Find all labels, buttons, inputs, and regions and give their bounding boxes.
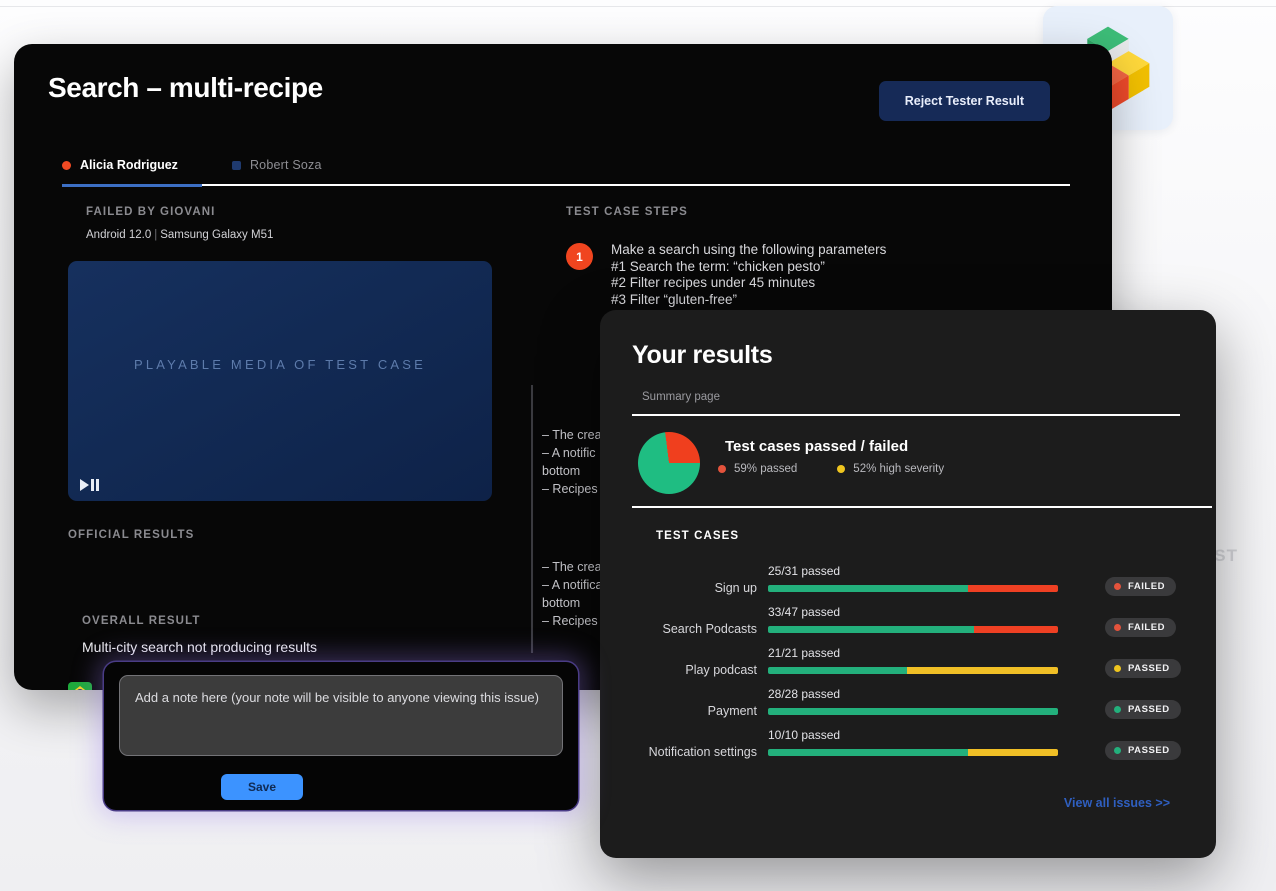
results-divider-bottom [632, 506, 1212, 508]
test-case-passed-count: 21/21 passed [768, 646, 840, 660]
test-case-progress-bar[interactable] [768, 585, 1058, 592]
save-note-button[interactable]: Save [221, 774, 303, 800]
overall-result-label: OVERALL RESULT [82, 615, 317, 627]
test-cases-heading: TEST CASES [656, 530, 739, 542]
status-label: FAILED [1128, 581, 1165, 592]
test-case-status-badge[interactable]: PASSED [1105, 700, 1181, 719]
progress-segment [768, 667, 907, 674]
progress-segment [968, 585, 1058, 592]
device-info: Android 12.0|Samsung Galaxy M51 [86, 229, 273, 241]
test-case-row: Play podcast21/21 passedPASSED [628, 646, 1198, 687]
tab-label: Alicia Rodriguez [80, 158, 178, 172]
overall-result-block: OVERALL RESULT Multi-city search not pro… [82, 615, 317, 655]
test-case-progress-bar[interactable] [768, 749, 1058, 756]
status-dot-icon [62, 161, 71, 170]
status-dot-icon [1114, 665, 1121, 672]
add-note-modal: Save [104, 662, 578, 810]
note-input[interactable] [119, 675, 563, 756]
test-case-status-badge[interactable]: FAILED [1105, 577, 1176, 596]
progress-segment [907, 667, 1058, 674]
test-case-name: Search Podcasts [663, 622, 758, 636]
reject-tester-result-button[interactable]: Reject Tester Result [879, 81, 1050, 121]
status-dot-icon [1114, 706, 1121, 713]
pause-icon [91, 479, 99, 491]
test-case-progress-bar[interactable] [768, 708, 1058, 715]
tab-label: Robert Soza [250, 158, 322, 172]
status-label: PASSED [1128, 745, 1170, 756]
brazil-flag-icon [68, 682, 92, 690]
tab-active-indicator [62, 184, 202, 187]
progress-segment [768, 585, 968, 592]
test-case-steps: TEST CASE STEPS 1 Make a search using th… [566, 206, 986, 325]
test-case-row: Notification settings10/10 passedPASSED [628, 728, 1198, 769]
test-case-row: Search Podcasts33/47 passedFAILED [628, 605, 1198, 646]
test-case-passed-count: 10/10 passed [768, 728, 840, 742]
test-case-name: Payment [708, 704, 757, 718]
test-case-name: Notification settings [649, 745, 757, 759]
tester-tabs: Alicia Rodriguez Robert Soza [62, 154, 322, 176]
status-label: PASSED [1128, 704, 1170, 715]
test-case-name: Play podcast [685, 663, 757, 677]
legend-item-severity: 52% high severity [837, 463, 944, 475]
test-case-row: Sign up25/31 passedFAILED [628, 564, 1198, 605]
device-model: Samsung Galaxy M51 [160, 229, 273, 241]
test-case-status-badge[interactable]: FAILED [1105, 618, 1176, 637]
test-case-name: Sign up [715, 581, 757, 595]
tab-alicia-rodriguez[interactable]: Alicia Rodriguez [62, 154, 178, 176]
summary-chart-title: Test cases passed / failed [725, 438, 908, 455]
passed-failed-pie-chart [638, 432, 700, 494]
play-pause-button[interactable] [80, 479, 99, 491]
background-wordmark-fragment: ST [1214, 546, 1238, 566]
progress-segment [768, 626, 974, 633]
chart-legend: 59% passed 52% high severity [718, 463, 944, 475]
tab-underline [62, 184, 1070, 186]
progress-segment [968, 749, 1058, 756]
test-case-progress-bar[interactable] [768, 667, 1058, 674]
device-separator: | [151, 229, 160, 241]
media-placeholder-caption: PLAYABLE MEDIA OF TEST CASE [68, 355, 492, 375]
status-dot-icon [1114, 583, 1121, 590]
test-cases-list: Sign up25/31 passedFAILEDSearch Podcasts… [628, 564, 1198, 769]
legend-dot-icon [718, 465, 726, 473]
test-case-steps-heading: TEST CASE STEPS [566, 206, 986, 218]
official-results-label: OFFICIAL RESULTS [68, 529, 194, 541]
legend-dot-icon [837, 465, 845, 473]
device-os: Android 12.0 [86, 229, 151, 241]
tab-robert-soza[interactable]: Robert Soza [232, 154, 322, 176]
results-title: Your results [632, 341, 772, 370]
step-number-badge: 1 [566, 243, 593, 270]
test-case-status-badge[interactable]: PASSED [1105, 741, 1181, 760]
test-case-progress-bar[interactable] [768, 626, 1058, 633]
failed-by-label: FAILED BY GIOVANI Android 12.0|Samsung G… [86, 206, 273, 241]
test-case-passed-count: 25/31 passed [768, 564, 840, 578]
status-dot-icon [1114, 747, 1121, 754]
test-case-passed-count: 33/47 passed [768, 605, 840, 619]
status-square-icon [232, 161, 241, 170]
progress-segment [768, 708, 1058, 715]
legend-item-passed: 59% passed [718, 463, 797, 475]
status-dot-icon [1114, 624, 1121, 631]
overall-result-value: Multi-city search not producing results [82, 639, 317, 655]
status-label: PASSED [1128, 663, 1170, 674]
progress-segment [974, 626, 1058, 633]
play-icon [80, 479, 89, 491]
status-label: FAILED [1128, 622, 1165, 633]
test-case-passed-count: 28/28 passed [768, 687, 840, 701]
results-divider-top [632, 414, 1180, 416]
media-player[interactable]: PLAYABLE MEDIA OF TEST CASE [68, 261, 492, 501]
test-case-row: Payment28/28 passedPASSED [628, 687, 1198, 728]
your-results-panel: Your results Summary page Test cases pas… [600, 310, 1216, 858]
view-all-issues-link[interactable]: View all issues >> [1064, 796, 1170, 810]
progress-segment [768, 749, 968, 756]
column-divider [531, 385, 533, 653]
results-subtitle: Summary page [642, 391, 720, 403]
screen-root: ST [0, 0, 1276, 891]
test-case-status-badge[interactable]: PASSED [1105, 659, 1181, 678]
